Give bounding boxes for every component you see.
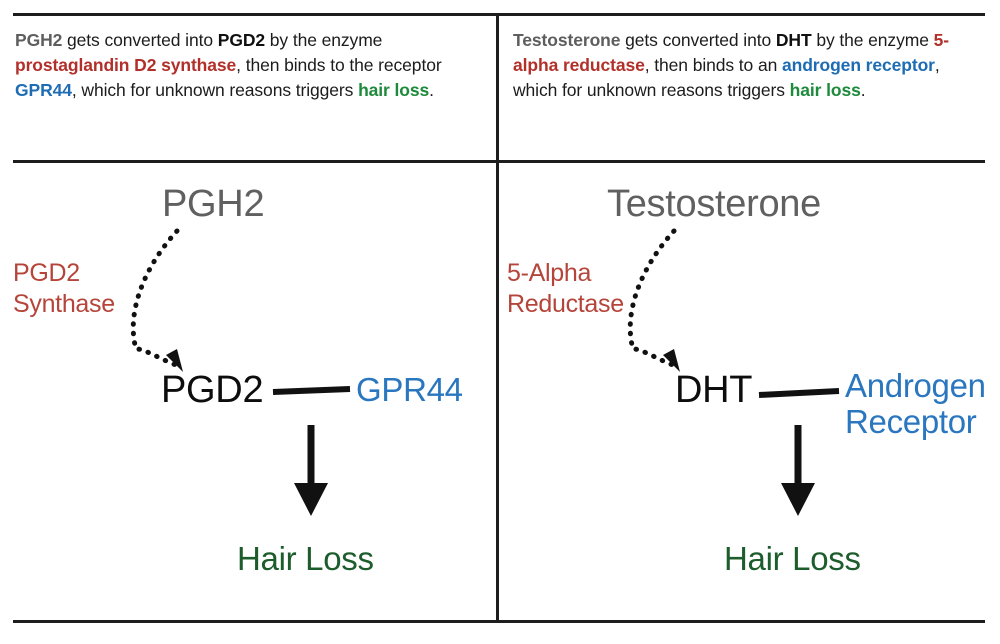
conversion-arrow-curve-left: [133, 231, 177, 365]
caption-text-2-right: by the enzyme: [812, 30, 934, 50]
conversion-arrow-curve-right: [630, 231, 674, 365]
caption-text-3-left: , then binds to the receptor: [236, 55, 441, 75]
caption-text-3-right: , then binds to an: [645, 55, 782, 75]
top-border-rule: [13, 13, 985, 16]
caption-outcome-hair-loss-right: hair loss: [790, 80, 861, 100]
outcome-arrow-head-right: [781, 483, 815, 516]
diagram-dht-pathway: Testosterone 5-Alpha Reductase DHT Andro…: [499, 163, 985, 620]
node-product-dht: DHT: [675, 369, 752, 412]
bottom-border-rule: [13, 620, 985, 623]
node-receptor-line-1-right: Androgen: [845, 368, 986, 404]
caption-substrate-testosterone: Testosterone: [513, 30, 620, 50]
outcome-arrow-head-left: [294, 483, 328, 516]
caption-receptor-androgen-receptor: androgen receptor: [782, 55, 935, 75]
caption-pgd2-pathway: PGH2 gets converted into PGD2 by the enz…: [15, 28, 485, 103]
caption-text-1-right: gets converted into: [620, 30, 776, 50]
node-enzyme-line-2-right: Reductase: [507, 289, 624, 320]
node-enzyme-line-1-right: 5-Alpha: [507, 258, 624, 289]
bond-line-right: [759, 391, 839, 395]
node-substrate-testosterone: Testosterone: [607, 183, 821, 226]
node-receptor-androgen-receptor: Androgen Receptor: [845, 368, 986, 441]
caption-receptor-gpr44: GPR44: [15, 80, 72, 100]
caption-enzyme-prostaglandin-d2-synthase: prostaglandin D2 synthase: [15, 55, 236, 75]
node-receptor-line-2-right: Receptor: [845, 404, 986, 440]
caption-text-5-right: .: [861, 80, 866, 100]
node-outcome-hair-loss-right: Hair Loss: [724, 540, 861, 578]
node-enzyme-5-alpha-reductase: 5-Alpha Reductase: [507, 258, 624, 319]
caption-text-2-left: by the enzyme: [265, 30, 382, 50]
node-product-pgd2: PGD2: [161, 369, 263, 412]
caption-dht-pathway: Testosterone gets converted into DHT by …: [513, 28, 981, 103]
caption-text-4-left: , which for unknown reasons triggers: [72, 80, 358, 100]
hair-loss-pathway-figure: PGH2 gets converted into PGD2 by the enz…: [0, 0, 1000, 644]
node-receptor-line-1-left: GPR44: [356, 372, 463, 408]
caption-outcome-hair-loss-left: hair loss: [358, 80, 429, 100]
caption-substrate-pgh2: PGH2: [15, 30, 62, 50]
bond-line-left: [273, 389, 350, 392]
node-enzyme-pgd2-synthase: PGD2 Synthase: [13, 258, 115, 319]
node-receptor-gpr44: GPR44: [356, 372, 463, 408]
caption-product-dht: DHT: [776, 30, 812, 50]
diagram-pgd2-pathway: PGH2 PGD2 Synthase PGD2 GPR44 Hair Loss: [16, 163, 496, 620]
caption-text-5-left: .: [429, 80, 434, 100]
caption-product-pgd2: PGD2: [218, 30, 265, 50]
node-substrate-pgh2: PGH2: [162, 183, 264, 226]
node-outcome-hair-loss-left: Hair Loss: [237, 540, 374, 578]
node-enzyme-line-2-left: Synthase: [13, 289, 115, 320]
caption-text-1-left: gets converted into: [62, 30, 218, 50]
node-enzyme-line-1-left: PGD2: [13, 258, 115, 289]
